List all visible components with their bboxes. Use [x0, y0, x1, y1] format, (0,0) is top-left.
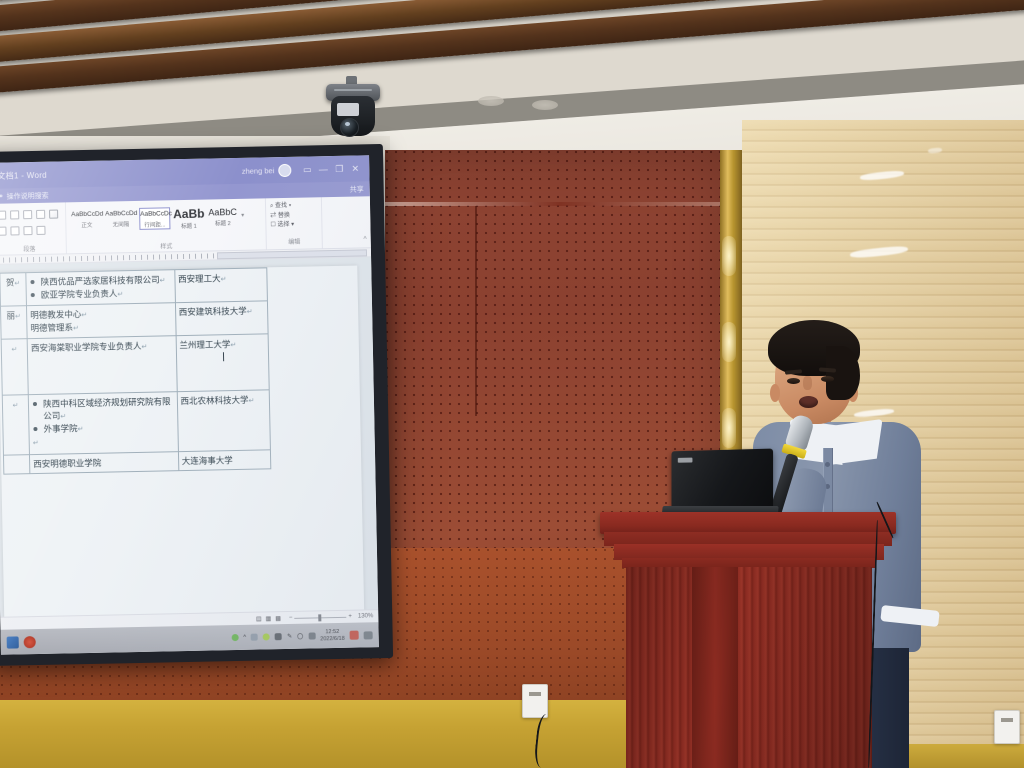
thinkpad-logo	[678, 458, 693, 463]
clock-date: 2022/6/18	[320, 635, 345, 641]
cell-col2: 明德教发中心↵ 明德管理系↵	[27, 303, 176, 339]
pdf-icon[interactable]	[24, 636, 36, 648]
decrease-indent-icon[interactable]	[0, 210, 6, 219]
clock-time: 12:52	[325, 629, 339, 635]
text-cursor	[223, 352, 224, 361]
lectern	[600, 512, 896, 768]
zoom-level-label[interactable]: 130%	[358, 613, 373, 619]
cell-col3: 大连海事大学	[178, 450, 271, 471]
pen-icon[interactable]: ✎	[287, 633, 292, 640]
restore-button[interactable]: ❐	[331, 163, 347, 174]
taskbar-clock[interactable]: 12:52 2022/6/18	[320, 629, 345, 642]
borders-icon[interactable]	[36, 225, 45, 234]
shading-icon[interactable]	[23, 226, 32, 235]
avatar[interactable]	[278, 163, 291, 176]
projection-screen: 文档1 - Word zheng bei ▭ — ❐ ✕ ⚭ 操作说明搜索 共享	[0, 144, 393, 666]
table-row: ↵ 西安海棠职业学院专业负责人↵ 兰州理工大学↵	[1, 334, 269, 395]
input-method-icon[interactable]	[350, 631, 359, 640]
word-ribbon: 段落 AaBbCcDd 正文 AaBbCcDd 无间隔	[0, 196, 371, 256]
group-label-paragraph: 段落	[0, 243, 66, 253]
web-layout-icon[interactable]: ▩	[275, 615, 281, 622]
ribbon-group-styles: AaBbCcDd 正文 AaBbCcDd 无间隔 AaBbCcDc 行间距...	[66, 198, 267, 253]
cell-col3: 西安理工大↵	[174, 268, 267, 303]
table-row: 西安明德职业学院 大连海事大学	[3, 450, 270, 474]
cell-col1: ↵	[2, 395, 29, 456]
hair	[768, 320, 860, 376]
shield-icon[interactable]	[263, 633, 270, 640]
cell-col3: 西安建筑科技大学↵	[175, 301, 268, 336]
cell-col1: 丽↵	[0, 306, 27, 340]
table-row: ↵ 陕西中科区域经济规划研究院有限公司↵ 外事学院↵ ↵ 西北农林科技大学↵	[2, 390, 270, 455]
user-name: zheng bei	[242, 166, 275, 176]
read-view-icon[interactable]: ▤	[256, 615, 262, 622]
minimize-button[interactable]: —	[315, 164, 331, 174]
cell-col2: 西安海棠职业学院专业负责人↵	[27, 336, 177, 395]
zoom-in-button[interactable]: +	[348, 614, 352, 620]
nose	[803, 376, 812, 390]
select-button[interactable]: ☐ 选择 ▾	[270, 220, 317, 230]
cell-col2: 西安明德职业学院	[30, 452, 179, 474]
cell-col1: 贺↵	[0, 273, 27, 307]
lectern-shading	[626, 567, 872, 768]
lectern-top	[600, 512, 896, 534]
ime-icon[interactable]: 〇	[297, 632, 303, 641]
styles-scroll-icon[interactable]: ▾	[241, 206, 244, 219]
shirt-button	[825, 462, 830, 467]
align-center-icon[interactable]	[10, 226, 19, 235]
style-heading-2[interactable]: AaBbC 标题 2	[207, 206, 238, 228]
group-label-editing: 编辑	[267, 238, 322, 249]
system-tray: ^ ✎ 〇 12:52 2022/6/18	[231, 628, 373, 644]
close-button[interactable]: ✕	[347, 163, 363, 174]
line-spacing-icon[interactable]	[49, 209, 58, 218]
browser-icon[interactable]	[7, 636, 19, 648]
eye-right	[821, 376, 834, 382]
cell-col3: 西北农林科技大学↵	[177, 390, 271, 452]
collar-right	[829, 419, 882, 465]
document-table: 贺↵ 陕西优品严选家居科技有限公司↵ 欧亚学院专业负责人↵ 西安理工大↵	[0, 267, 271, 474]
align-left-icon[interactable]	[0, 226, 7, 235]
cell-col1: ↵	[1, 339, 28, 396]
zoom-slider[interactable]: − +	[289, 614, 352, 621]
document-page: 贺↵ 陕西优品严选家居科技有限公司↵ 欧亚学院专业负责人↵ 西安理工大↵	[0, 266, 364, 617]
chevron-up-icon[interactable]: ^	[243, 634, 246, 640]
style-no-spacing[interactable]: AaBbCcDd 无间隔	[105, 208, 136, 229]
style-heading-1[interactable]: AaBb 标题 1	[173, 207, 204, 231]
replace-icon: ⇄	[270, 213, 276, 219]
share-button[interactable]: 共享	[350, 184, 364, 194]
increase-indent-icon[interactable]	[10, 210, 19, 219]
style-selected[interactable]: AaBbCcDc 行间距...	[139, 207, 170, 230]
table-row: 贺↵ 陕西优品严选家居科技有限公司↵ 欧亚学院专业负责人↵ 西安理工大↵	[0, 268, 267, 306]
document-canvas: 贺↵ 陕西优品严选家居科技有限公司↵ 欧亚学院专业负责人↵ 西安理工大↵	[0, 257, 378, 617]
eye-left	[787, 378, 800, 384]
search-icon: ⌕	[270, 203, 273, 209]
style-normal[interactable]: AaBbCcDd 正文	[71, 209, 102, 230]
keyboard-icon[interactable]	[308, 632, 315, 639]
ribbon-collapse-area: ^	[322, 196, 371, 248]
select-icon: ☐	[270, 222, 276, 228]
mouth	[799, 396, 818, 408]
cell-col1	[3, 455, 29, 475]
word-application-window: 文档1 - Word zheng bei ▭ — ❐ ✕ ⚭ 操作说明搜索 共享	[0, 155, 379, 654]
document-title: 文档1 - Word	[0, 169, 47, 181]
ptz-camera-icon	[322, 84, 384, 148]
notification-icon[interactable]	[364, 631, 373, 639]
table-row: 丽↵ 明德教发中心↵ 明德管理系↵ 西安建筑科技大学↵	[0, 301, 268, 339]
volume-icon[interactable]	[275, 633, 282, 640]
tell-me-label[interactable]: 操作说明搜索	[7, 190, 49, 201]
show-marks-icon[interactable]	[36, 209, 45, 218]
network-icon[interactable]	[251, 634, 258, 641]
cell-col2: 陕西优品严选家居科技有限公司↵ 欧亚学院专业负责人↵	[26, 270, 175, 306]
wall-outlet-right	[994, 710, 1020, 744]
ribbon-display-options-button[interactable]: ▭	[299, 164, 315, 175]
zoom-out-button[interactable]: −	[289, 615, 293, 621]
print-layout-icon[interactable]: ▦	[265, 615, 271, 622]
wall-outlet-left	[522, 684, 548, 718]
lightbulb-icon: ⚭	[0, 192, 4, 200]
chevron-up-icon[interactable]: ^	[363, 236, 366, 243]
ribbon-group-editing: ⌕ 查找 ▾ ⇄ 替换 ☐ 选择 ▾ 编辑	[266, 197, 323, 249]
laptop-lid	[672, 449, 774, 514]
cell-col2: 陕西中科区域经济规划研究院有限公司↵ 外事学院↵ ↵	[28, 392, 178, 455]
ribbon-group-paragraph: 段落	[0, 202, 67, 254]
ear-left	[770, 384, 780, 402]
sort-icon[interactable]	[23, 210, 32, 219]
battery-icon[interactable]	[231, 634, 238, 641]
conference-room-photo: 文档1 - Word zheng bei ▭ — ❐ ✕ ⚭ 操作说明搜索 共享	[0, 0, 1024, 768]
cell-col3: 兰州理工大学↵	[176, 334, 269, 392]
